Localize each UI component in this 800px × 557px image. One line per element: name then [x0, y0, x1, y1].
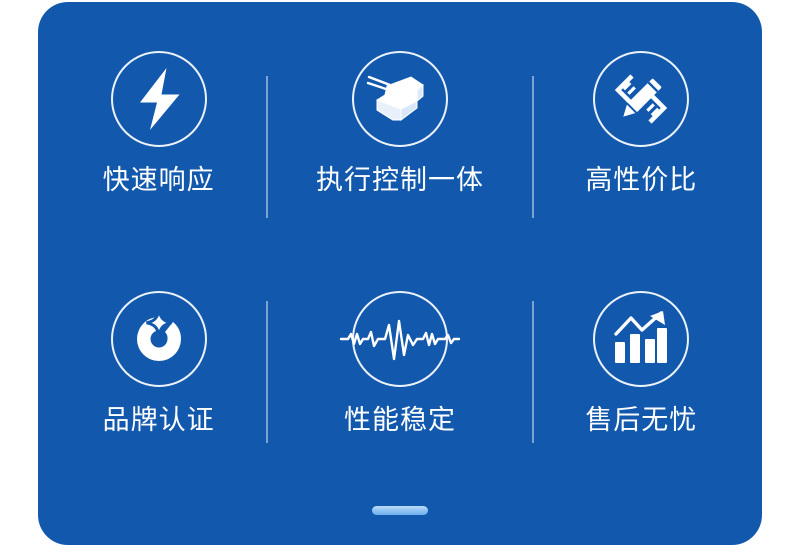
icon-circle [593, 51, 689, 147]
feature-cell-cost-effective[interactable]: 高性价比 [521, 2, 762, 242]
lightning-bolt-icon [130, 66, 188, 132]
divider-vertical [532, 301, 534, 443]
blue-panel: 快速响应 [38, 2, 762, 545]
bottom-handle-indicator[interactable] [372, 506, 428, 515]
feature-banner: 快速响应 [0, 0, 800, 557]
feature-cell-fast-response[interactable]: 快速响应 [38, 2, 279, 242]
certification-sparkle-icon [129, 310, 189, 368]
icon-circle [352, 291, 448, 387]
feature-cell-brand-certified[interactable]: 品牌认证 [38, 242, 279, 482]
divider-vertical [266, 76, 268, 218]
icon-circle [593, 291, 689, 387]
divider-vertical [532, 76, 534, 218]
icon-circle [111, 51, 207, 147]
feature-label: 品牌认证 [103, 407, 215, 434]
feature-cell-integrated-control[interactable]: 执行控制一体 [279, 2, 520, 242]
feature-label: 执行控制一体 [316, 167, 484, 194]
waveform-icon [341, 315, 459, 363]
feature-label: 快速响应 [103, 167, 215, 194]
feature-label: 性能稳定 [344, 407, 456, 434]
icon-circle [352, 51, 448, 147]
feature-grid: 快速响应 [38, 2, 762, 482]
feature-cell-stable-performance[interactable]: 性能稳定 [279, 242, 520, 482]
pencil-ruler-icon [610, 68, 672, 130]
feature-cell-after-sales[interactable]: 售后无忧 [521, 242, 762, 482]
feature-label: 高性价比 [585, 167, 697, 194]
feature-label: 售后无忧 [585, 407, 697, 434]
divider-vertical [266, 301, 268, 443]
icon-circle [111, 291, 207, 387]
actuator-device-icon [367, 68, 433, 130]
bar-chart-growth-icon [611, 310, 671, 368]
